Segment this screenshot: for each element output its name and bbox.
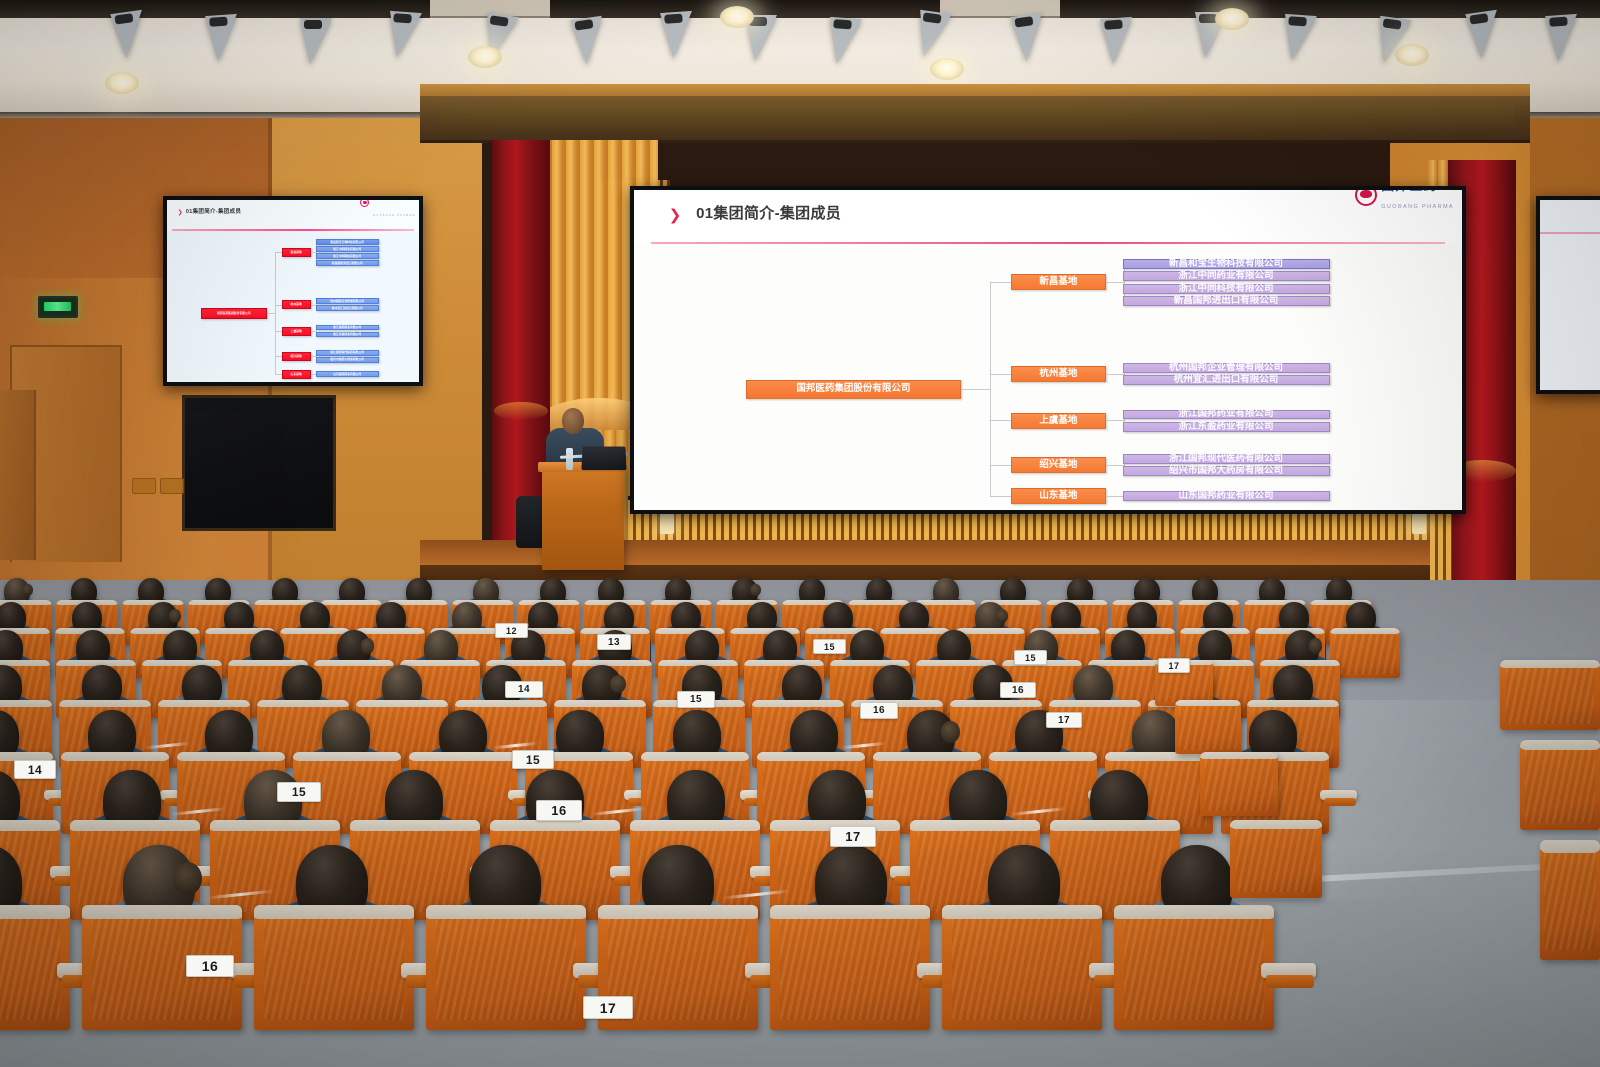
seat-number-plate: 17	[583, 996, 633, 1019]
seat-number-plate: 16	[1000, 682, 1036, 698]
seat-number-plate: 14	[14, 760, 56, 779]
seat-number-plate: 13	[597, 634, 631, 650]
seat-number-plates: 1415161716151413121516171515161717	[0, 0, 1600, 1067]
auditorium-photo: ❯ 01集团简介-集团成员 国邦医药 GUOBANG PHARMA 国邦医药集团…	[0, 0, 1600, 1067]
seat-number-plate: 15	[512, 750, 554, 769]
seat-number-plate: 15	[677, 691, 715, 708]
seat-number-plate: 16	[536, 800, 582, 821]
seat-number-plate: 15	[1014, 650, 1047, 665]
seat-number-plate: 15	[277, 782, 321, 802]
seat-number-plate: 14	[505, 681, 543, 698]
seat-number-plate: 16	[186, 955, 234, 977]
seat-number-plate: 17	[830, 826, 876, 847]
seat-number-plate: 17	[1158, 658, 1190, 673]
seat-number-plate: 12	[495, 623, 528, 638]
seat-number-plate: 15	[813, 639, 846, 654]
seat-number-plate: 16	[860, 702, 898, 719]
seat-number-plate: 17	[1046, 712, 1082, 728]
